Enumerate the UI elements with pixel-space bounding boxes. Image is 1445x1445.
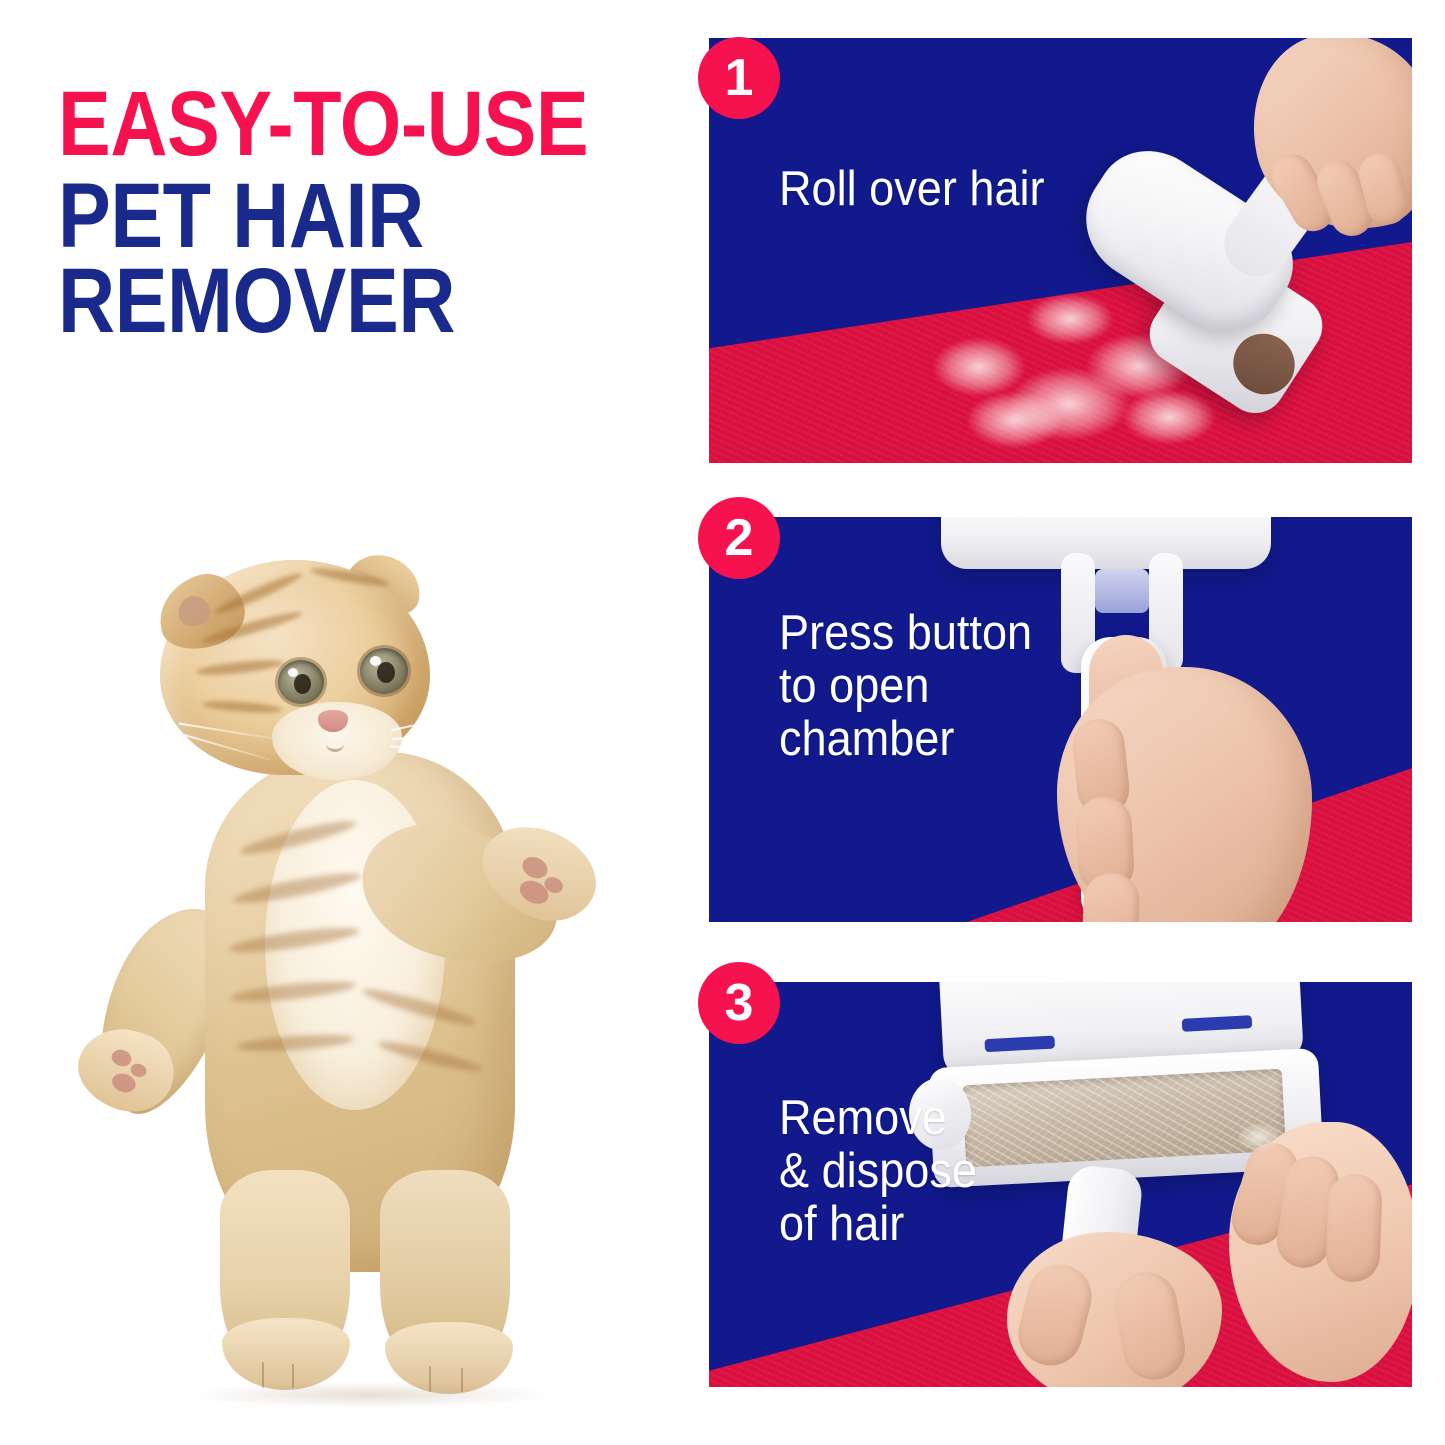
step-badge-2: 2 <box>698 497 780 579</box>
step-badge-3: 3 <box>698 962 780 1044</box>
cat-hero-image <box>60 530 680 1430</box>
paw-pad <box>109 1047 133 1068</box>
cat-ground-shadow <box>190 1382 550 1408</box>
pet-hair-tuft <box>933 338 1025 396</box>
step-number-3: 3 <box>725 977 754 1029</box>
lid-clip <box>984 1036 1055 1053</box>
hand-holding-handle <box>1007 1232 1222 1387</box>
cat-left-pupil <box>294 674 311 694</box>
hand-gripping-handle <box>1057 667 1312 922</box>
step-panel-2: Press button to open chamber <box>709 517 1412 922</box>
cat-whisker <box>392 730 508 740</box>
finger <box>1110 1267 1190 1384</box>
finger <box>1325 1173 1383 1283</box>
pet-hair-tuft <box>1123 390 1215 444</box>
pet-hair-tuft <box>1027 294 1113 344</box>
cat-left-eye-glint <box>288 668 298 677</box>
step-badge-1: 1 <box>698 37 780 119</box>
chamber-release-button <box>1095 569 1149 613</box>
left-column: EASY-TO-USE PET HAIR REMOVER <box>0 0 690 1445</box>
step-number-2: 2 <box>725 512 754 564</box>
cat-right-eye-glint <box>370 656 381 666</box>
step-3-caption: Remove & dispose of hair <box>779 1092 977 1251</box>
cat-right-pupil <box>377 662 395 683</box>
roller-top-bar <box>941 517 1271 569</box>
headline-block: EASY-TO-USE PET HAIR REMOVER <box>58 82 678 345</box>
cat-mouth <box>326 736 344 752</box>
step-1-caption: Roll over hair <box>779 163 1045 216</box>
step-2-caption: Press button to open chamber <box>779 607 1032 766</box>
lid-clip <box>1182 1015 1253 1032</box>
headline-line-pet-hair: PET HAIR <box>58 174 591 260</box>
pinched-hair-clump <box>1239 1124 1279 1150</box>
step-panel-3: Remove & dispose of hair <box>709 982 1412 1387</box>
headline-line-remover: REMOVER <box>58 259 591 345</box>
cat-left-hindpaw <box>222 1318 350 1390</box>
headline-line-easy-to-use: EASY-TO-USE <box>58 82 591 168</box>
pet-hair-tuft <box>967 392 1063 448</box>
finger <box>1012 1258 1099 1372</box>
step-panel-1: Roll over hair <box>709 38 1412 463</box>
collected-hair <box>962 1069 1286 1168</box>
step-number-1: 1 <box>725 52 754 104</box>
